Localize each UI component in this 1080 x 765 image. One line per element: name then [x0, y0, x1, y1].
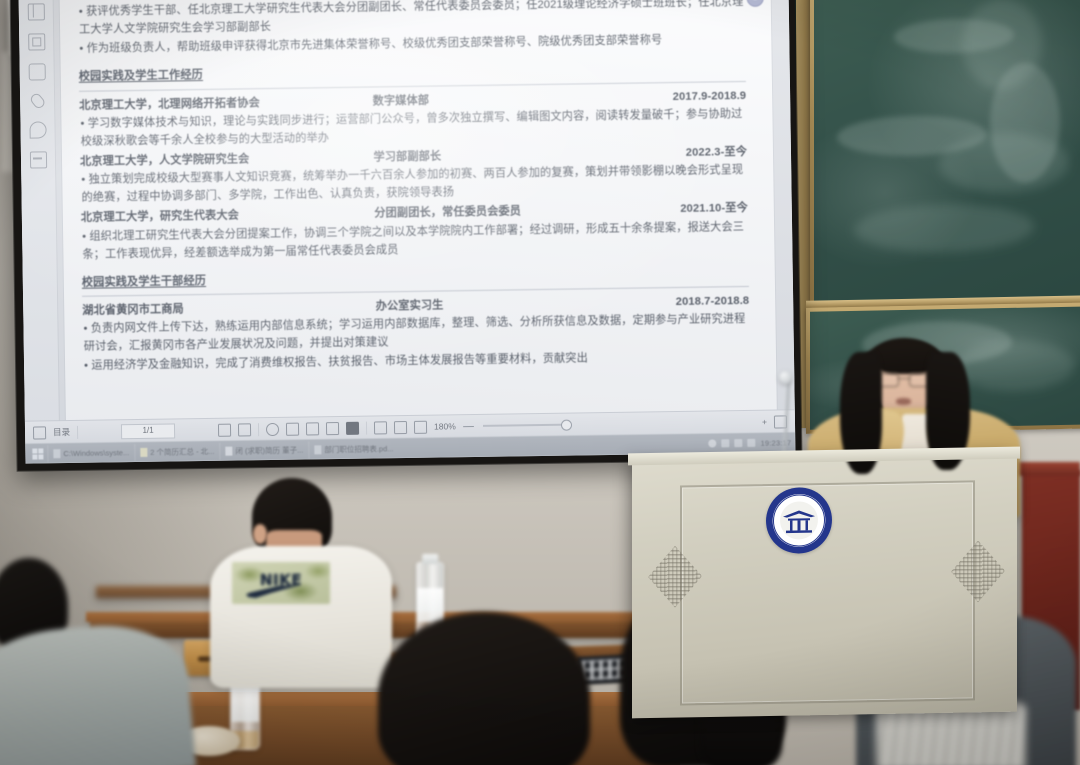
- console-window-icon: [53, 449, 60, 458]
- facing-icon[interactable]: [414, 420, 427, 433]
- page-icon[interactable]: [28, 63, 45, 80]
- taskbar-item-label: 闭 (求职)简历 董子...: [235, 444, 303, 456]
- chalkboard-upper: [810, 0, 1080, 319]
- pdf-reader-window: S • 获评优秀学生干部、任北京理工大学研究生代表大会分团副团长、常任代表委员会…: [19, 0, 795, 422]
- taskbar-item-label: 部门职位招聘表.pd...: [324, 443, 393, 455]
- presenter-mouth: [896, 398, 911, 405]
- note-icon[interactable]: [326, 422, 339, 435]
- hand-icon[interactable]: [306, 422, 319, 435]
- comment-icon[interactable]: [29, 121, 46, 138]
- single-page-icon[interactable]: [374, 421, 387, 434]
- battery-icon[interactable]: [734, 439, 742, 447]
- taskbar-item[interactable]: 部门职位招聘表.pd...: [308, 440, 398, 458]
- zoom-level[interactable]: 180%: [434, 421, 456, 431]
- zoom-slider[interactable]: [483, 424, 569, 427]
- taskbar-item[interactable]: C:\Windows\syste...: [47, 444, 134, 462]
- first-page-icon[interactable]: [85, 426, 96, 437]
- projection-screen: S • 获评优秀学生干部、任北京理工大学研究生代表大会分团副团长、常任代表委员会…: [10, 0, 801, 471]
- date-range: 2021.10-至今: [594, 199, 748, 219]
- rotate-icon[interactable]: [266, 422, 279, 435]
- taskbar-item-label: C:\Windows\syste...: [63, 448, 129, 458]
- windows-logo-icon: [32, 448, 43, 459]
- student-nike-ear: [253, 524, 267, 544]
- network-icon[interactable]: [708, 439, 716, 447]
- volume-icon[interactable]: [721, 439, 729, 447]
- zoom-out-icon[interactable]: [463, 426, 474, 427]
- sidebar-toggle-icon[interactable]: [33, 426, 46, 439]
- pdf-icon: [314, 445, 321, 454]
- fit-width-icon[interactable]: [238, 423, 251, 436]
- toolbar-separator: [77, 425, 78, 438]
- zoom-in-icon[interactable]: +: [762, 417, 767, 427]
- fit-page-icon[interactable]: [218, 423, 231, 436]
- document-icon: [140, 447, 147, 456]
- taskbar-item[interactable]: 2 个简历汇总 - 北...: [134, 442, 219, 460]
- play-icon[interactable]: [346, 421, 359, 434]
- page-indicator[interactable]: 1/1: [121, 423, 175, 439]
- classroom-presentation-photo: S • 获评优秀学生干部、任北京理工大学研究生代表大会分团副团长、常任代表委员会…: [0, 0, 1080, 765]
- system-tray[interactable]: 19:23:17: [708, 438, 795, 448]
- wooden-cabinet-top: [1014, 462, 1080, 476]
- pdf-document-page[interactable]: S • 获评优秀学生干部、任北京理工大学研究生代表大会分团副团长、常任代表委员会…: [60, 0, 777, 421]
- thumbnail-icon[interactable]: [28, 33, 45, 50]
- continuous-icon[interactable]: [394, 421, 407, 434]
- toolbar-label: 目录: [53, 426, 70, 438]
- date-range: 2017.9-2018.9: [593, 87, 747, 107]
- gooseneck-microphone-icon: [779, 371, 792, 384]
- start-button[interactable]: [27, 444, 47, 462]
- attachment-icon[interactable]: [28, 92, 46, 111]
- date-range: 2022.3-至今: [593, 143, 747, 163]
- resume-content: • 获评优秀学生干部、任北京理工大学研究生代表大会分团副团长、常任代表委员会委员…: [78, 0, 750, 375]
- next-page-icon[interactable]: [182, 425, 193, 436]
- toolbar-separator: [258, 423, 259, 436]
- layers-icon[interactable]: [29, 151, 46, 168]
- taskbar-item[interactable]: 闭 (求职)简历 董子...: [219, 441, 308, 459]
- document-icon: [225, 446, 232, 455]
- pdf-sidebar[interactable]: [19, 0, 60, 422]
- date-range: 2018.7-2018.8: [596, 292, 750, 312]
- taskbar-item-label: 2 个简历汇总 - 北...: [150, 445, 214, 457]
- toolbar-separator: [366, 421, 367, 434]
- select-icon[interactable]: [286, 422, 299, 435]
- pavilion-icon: [781, 508, 817, 535]
- last-page-icon[interactable]: [200, 424, 211, 435]
- bookmark-icon[interactable]: [27, 3, 44, 20]
- lectern: [632, 452, 1017, 719]
- glasses-icon: [876, 373, 932, 385]
- ime-icon[interactable]: [747, 439, 755, 447]
- page-badge: S: [747, 0, 764, 7]
- prev-page-icon[interactable]: [103, 426, 114, 437]
- nike-graphic-print: NIKE: [232, 562, 330, 604]
